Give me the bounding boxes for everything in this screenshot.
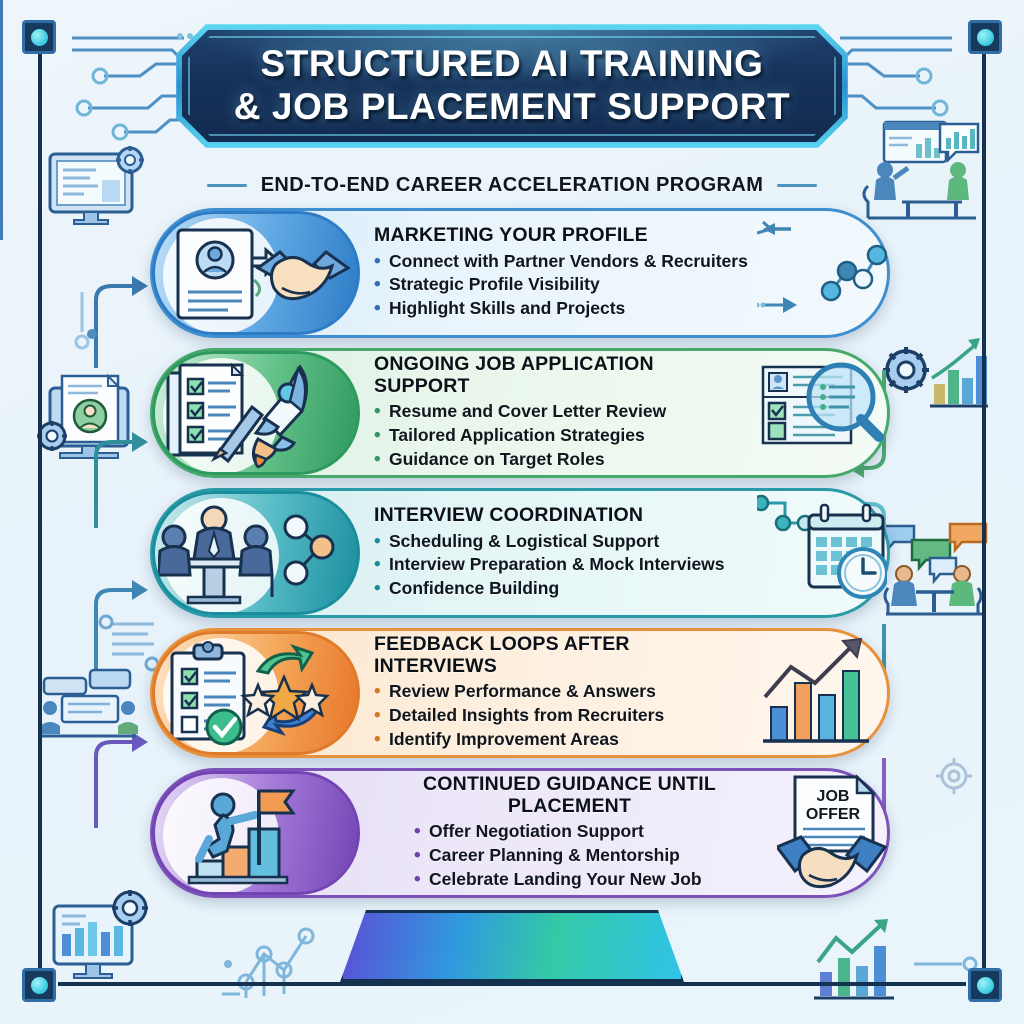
- stage-card-marketing-your-profile[interactable]: MARKETING YOUR PROFILE Connect with Part…: [150, 208, 890, 338]
- list-item: Connect with Partner Vendors & Recruiter…: [374, 250, 745, 274]
- bottom-gradient-platform-bar: [340, 910, 684, 982]
- list-item: Career Planning & Mentorship: [414, 844, 765, 868]
- stage-1-body: MARKETING YOUR PROFILE Connect with Part…: [360, 217, 757, 329]
- stage-5-title: CONTINUED GUIDANCE UNTIL PLACEMENT: [374, 774, 765, 817]
- stage-card-ongoing-job-application-support[interactable]: ONGOING JOB APPLICATION SUPPORT Resume a…: [150, 348, 890, 478]
- subtitle-dash-right: [777, 184, 817, 187]
- list-item: Guidance on Target Roles: [374, 448, 745, 472]
- stage-1-extra: [757, 213, 887, 333]
- stage-list: MARKETING YOUR PROFILE Connect with Part…: [150, 208, 890, 908]
- stage-3-extra: [757, 493, 887, 613]
- stage-2-badge: [152, 351, 360, 475]
- growth-bar-chart-icon: [757, 633, 887, 753]
- frame-line-bottom: [58, 982, 966, 986]
- clipboard-stars-cycle-icon: [158, 637, 354, 749]
- job-offer-label-line-1: JOB: [817, 788, 850, 805]
- stage-1-bullets: Connect with Partner Vendors & Recruiter…: [374, 250, 745, 321]
- corner-node-bottom-right: [968, 968, 1002, 1002]
- stage-5-extra: JOB OFFER: [777, 773, 887, 893]
- person-climbing-steps-flag-icon: [181, 777, 331, 889]
- job-offer-handshake-icon: JOB OFFER: [777, 773, 889, 891]
- stage-2-title: ONGOING JOB APPLICATION SUPPORT: [374, 354, 745, 397]
- corner-node-top-left: [22, 20, 56, 54]
- list-item: Confidence Building: [374, 577, 745, 601]
- stage-3-title: INTERVIEW COORDINATION: [374, 505, 745, 526]
- interview-panel-icon: [158, 497, 354, 609]
- list-item: Tailored Application Strategies: [374, 424, 745, 448]
- calendar-clock-icon: [757, 493, 887, 613]
- list-item: Resume and Cover Letter Review: [374, 400, 745, 424]
- list-item: Detailed Insights from Recruiters: [374, 704, 745, 728]
- list-item: Offer Negotiation Support: [414, 820, 765, 844]
- stage-3-body: INTERVIEW COORDINATION Scheduling & Logi…: [360, 497, 757, 609]
- stage-3-bullets: Scheduling & Logistical Support Intervie…: [374, 530, 745, 601]
- stage-card-continued-guidance-until-placement[interactable]: CONTINUED GUIDANCE UNTIL PLACEMENT Offer…: [150, 768, 890, 898]
- stage-4-extra: [757, 633, 887, 753]
- checklist-rocket-icon: [158, 357, 354, 469]
- resume-magnifier-icon: [757, 353, 887, 463]
- stage-4-bullets: Review Performance & Answers Detailed In…: [374, 680, 745, 751]
- network-nodes-icon: [757, 213, 887, 333]
- subtitle-row: END-TO-END CAREER ACCELERATION PROGRAM: [0, 170, 1024, 200]
- stage-2-body: ONGOING JOB APPLICATION SUPPORT Resume a…: [360, 346, 757, 479]
- list-item: Celebrate Landing Your New Job: [414, 868, 765, 892]
- page-title-line-2: & JOB PLACEMENT SUPPORT: [234, 86, 791, 127]
- list-item: Highlight Skills and Projects: [374, 297, 745, 321]
- list-item: Review Performance & Answers: [374, 680, 745, 704]
- page-subtitle: END-TO-END CAREER ACCELERATION PROGRAM: [261, 174, 764, 197]
- stage-5-bullets: Offer Negotiation Support Career Plannin…: [374, 820, 765, 891]
- stage-1-badge: [152, 211, 360, 335]
- list-item: Interview Preparation & Mock Interviews: [374, 553, 745, 577]
- stage-card-feedback-loops-after-interviews[interactable]: FEEDBACK LOOPS AFTER INTERVIEWS Review P…: [150, 628, 890, 758]
- header-banner: STRUCTURED AI TRAINING & JOB PLACEMENT S…: [182, 30, 842, 142]
- corner-node-bottom-left: [22, 968, 56, 1002]
- subtitle-dash-left: [207, 184, 247, 187]
- stage-5-body: CONTINUED GUIDANCE UNTIL PLACEMENT Offer…: [360, 766, 777, 899]
- stage-card-interview-coordination[interactable]: INTERVIEW COORDINATION Scheduling & Logi…: [150, 488, 890, 618]
- stage-3-badge: [152, 491, 360, 615]
- list-item: Scheduling & Logistical Support: [374, 530, 745, 554]
- page-title: STRUCTURED AI TRAINING & JOB PLACEMENT S…: [212, 43, 813, 129]
- stage-5-badge: [152, 771, 360, 895]
- corner-node-top-right: [968, 20, 1002, 54]
- frame-accent-left: [0, 0, 3, 120]
- list-item: Strategic Profile Visibility: [374, 273, 745, 297]
- stage-1-title: MARKETING YOUR PROFILE: [374, 225, 745, 246]
- stage-4-badge: [152, 631, 360, 755]
- stage-4-body: FEEDBACK LOOPS AFTER INTERVIEWS Review P…: [360, 626, 757, 759]
- stage-2-extra: [757, 353, 887, 473]
- list-item: Identify Improvement Areas: [374, 728, 745, 752]
- page-title-line-1: STRUCTURED AI TRAINING: [260, 43, 763, 84]
- job-offer-label-line-2: OFFER: [806, 806, 861, 823]
- profile-document-handshake-icon: [158, 218, 354, 328]
- stage-2-bullets: Resume and Cover Letter Review Tailored …: [374, 400, 745, 471]
- stage-4-title: FEEDBACK LOOPS AFTER INTERVIEWS: [374, 634, 745, 677]
